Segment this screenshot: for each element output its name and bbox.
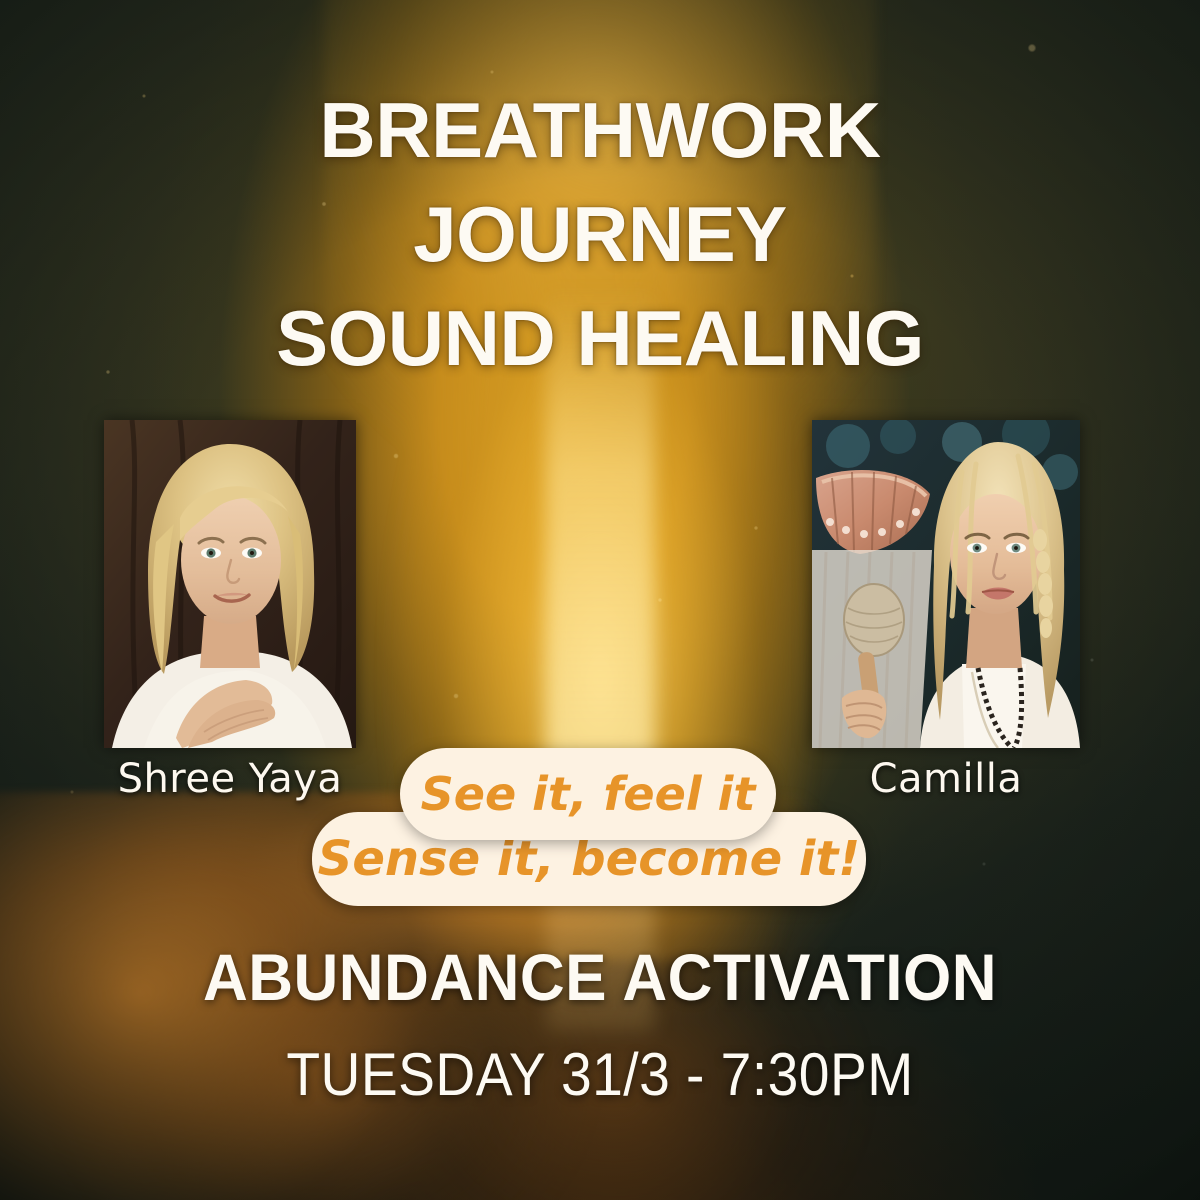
title-line-3: SOUND HEALING	[0, 286, 1200, 390]
presenter-photo-shree-yaya	[104, 420, 356, 748]
event-headline: ABUNDANCE ACTIVATION	[36, 938, 1164, 1016]
presenter-name-left: Shree Yaya	[104, 756, 356, 802]
title-line-1: BREATHWORK	[0, 78, 1200, 182]
portrait-left-illustration	[104, 420, 356, 748]
title-line-2: JOURNEY	[0, 182, 1200, 286]
flyer-canvas: BREATHWORK JOURNEY SOUND HEALING	[0, 0, 1200, 1200]
footer-block: ABUNDANCE ACTIVATION TUESDAY 31/3 - 7:30…	[0, 938, 1200, 1112]
page-title: BREATHWORK JOURNEY SOUND HEALING	[0, 78, 1200, 390]
quote-bubble-line-1: See it, feel it	[400, 748, 776, 840]
presenter-photo-camilla	[812, 420, 1080, 748]
presenter-name-right: Camilla	[812, 756, 1080, 802]
portrait-right-illustration	[812, 420, 1080, 748]
event-datetime: TUESDAY 31/3 - 7:30PM	[48, 1038, 1152, 1112]
